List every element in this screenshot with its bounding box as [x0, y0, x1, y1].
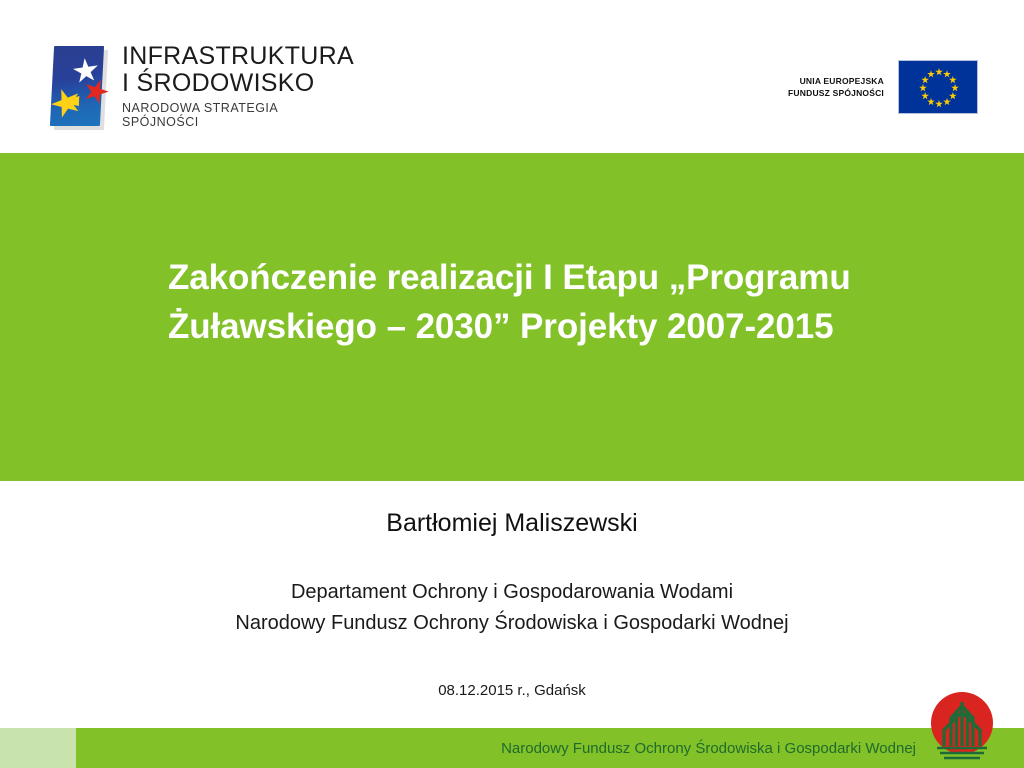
eu-label-line-1: UNIA EUROPEJSKA: [788, 75, 884, 87]
eu-flag-star-icon: [927, 70, 935, 78]
ncs-title-line-2: I ŚRODOWISKO: [122, 70, 354, 97]
eu-flag-icon: [898, 60, 978, 114]
eu-flag-star-icon: [919, 84, 927, 92]
infrastruktura-srodowisko-logo: INFRASTRUKTURA I ŚRODOWISKO NARODOWA STR…: [46, 36, 346, 136]
ncs-logo-text: INFRASTRUKTURA I ŚRODOWISKO NARODOWA STR…: [122, 43, 354, 129]
presenter-organization: Narodowy Fundusz Ochrony Środowiska i Go…: [0, 608, 1024, 639]
nfosigw-tree-logo-icon: [931, 696, 993, 760]
yellow-star-icon: [47, 83, 85, 122]
eu-label-text: UNIA EUROPEJSKA FUNDUSZ SPÓJNOŚCI: [788, 75, 884, 100]
presenter-affiliation: Departament Ochrony i Gospodarowania Wod…: [0, 577, 1024, 639]
eu-flag-star-icon: [927, 98, 935, 106]
eu-flag-star-icon: [943, 98, 951, 106]
presenter-section: Bartłomiej Maliszewski Departament Ochro…: [0, 481, 1024, 721]
eu-flag-star-icon: [935, 100, 943, 108]
eu-flag-star-icon: [935, 68, 943, 76]
slide-footer: Narodowy Fundusz Ochrony Środowiska i Go…: [0, 728, 1024, 768]
eu-flag-star-icon: [949, 76, 957, 84]
eu-flag-star-icon: [921, 76, 929, 84]
eu-flag-star-icon: [949, 92, 957, 100]
slide-title-line-2: Żuławskiego – 2030” Projekty 2007-2015: [168, 302, 878, 351]
white-star-icon: [72, 56, 100, 85]
eu-cohesion-fund-block: UNIA EUROPEJSKA FUNDUSZ SPÓJNOŚCI: [788, 60, 978, 114]
flag-body: [50, 46, 104, 126]
presenter-name: Bartłomiej Maliszewski: [0, 509, 1024, 538]
slide-header: INFRASTRUKTURA I ŚRODOWISKO NARODOWA STR…: [0, 0, 1024, 153]
eu-label-line-2: FUNDUSZ SPÓJNOŚCI: [788, 87, 884, 99]
ncs-stars-flag-icon: [46, 43, 108, 129]
date-and-place: 08.12.2015 r., Gdańsk: [0, 682, 1024, 699]
eu-flag-star-icon: [921, 92, 929, 100]
title-band: Zakończenie realizacji I Etapu „Programu…: [0, 153, 1024, 481]
presentation-slide: INFRASTRUKTURA I ŚRODOWISKO NARODOWA STR…: [0, 0, 1024, 768]
nfosigw-logo: [919, 692, 1009, 762]
ncs-title-line-1: INFRASTRUKTURA: [122, 43, 354, 70]
ncs-subtitle: NARODOWA STRATEGIA SPÓJNOŚCI: [122, 101, 354, 129]
footer-organization-text: Narodowy Fundusz Ochrony Środowiska i Go…: [501, 728, 916, 768]
slide-title-line-1: Zakończenie realizacji I Etapu „Programu: [168, 253, 878, 302]
footer-left-block: [0, 728, 76, 768]
slide-title: Zakończenie realizacji I Etapu „Programu…: [168, 253, 878, 351]
eu-flag-star-icon: [943, 70, 951, 78]
eu-flag-star-icon: [951, 84, 959, 92]
red-star-icon: [80, 76, 112, 108]
presenter-department: Departament Ochrony i Gospodarowania Wod…: [0, 577, 1024, 608]
